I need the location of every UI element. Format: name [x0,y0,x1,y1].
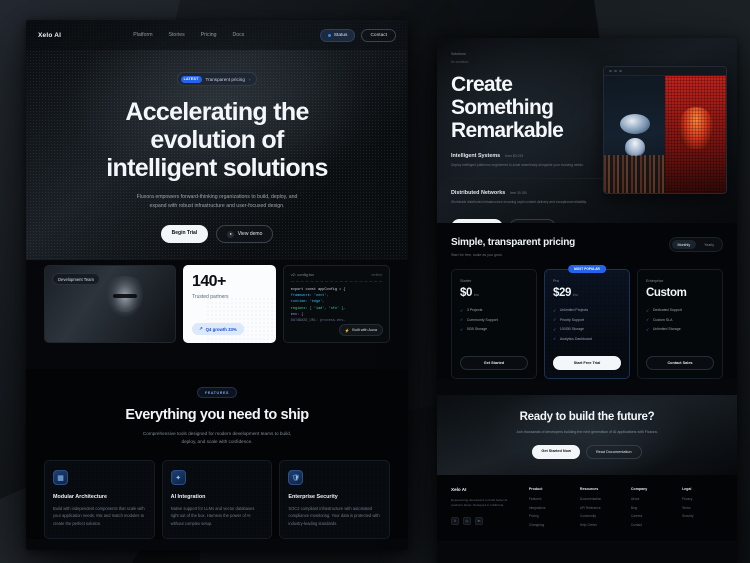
chevron-right-icon: › [249,77,251,82]
stat-number: 140+ [192,274,267,290]
footer-column-heading: Product [529,487,570,491]
announcement-badge[interactable]: LATEST Transparent pricing › [177,72,258,86]
plan-feature-list: ✓3 Projects ✓Community Support ✓5GB Stor… [460,308,528,332]
sparkles-icon: ✦ [171,470,186,485]
plan-feature-label: Dedicated Support [653,308,682,312]
plan-feature-label: 3 Projects [467,308,483,312]
artwork-window-bar [604,67,726,76]
linkedin-icon[interactable]: in [475,517,483,525]
right-feature-row: Distributed Networks free 30 GB Worldwid… [451,190,619,206]
window-dot-icon [609,70,612,73]
footer-link[interactable]: Pricing [529,514,570,518]
built-with-button[interactable]: ⚡ Built with Auxa [339,324,383,336]
features-subtitle-line2: deploy, and scale with confidence. [44,438,390,446]
pricing-heading-group: Simple, transparent pricing Start for fr… [451,237,575,257]
artwork-shape [620,114,650,134]
plan-feature: ✓Custom SLA [646,317,714,322]
plan-feature: ✓Dedicated Support [646,308,714,313]
code-snippet-card: v2: config.tsx verified export const app… [283,265,390,343]
plan-feature: ✓100GB Storage [553,327,621,332]
plan-tier: Enterprise [646,279,714,283]
features-section: FEATURES Everything you need to ship Com… [26,369,408,539]
right-feature-desc: Deploy intelligent platforms engineered … [451,163,619,169]
plan-feature-label: Unlimited Projects [560,308,588,312]
plan-feature: ✓5GB Storage [460,327,528,332]
plan-feature-label: Custom SLA [653,318,673,322]
hero-badge-row: LATEST Transparent pricing › [56,72,378,86]
landing-page-panel-right: Solutions for creatives Create Something… [437,38,737,563]
feature-card[interactable]: ✦ AI Integration Native support for LLMs… [162,460,273,539]
footer: Xelo AI Empowering developers to build b… [437,475,737,541]
nav-link-platform[interactable]: Platform [133,32,152,38]
nav-link-pricing[interactable]: Pricing [201,32,217,38]
contact-button[interactable]: Contact [361,29,396,42]
pricing-subtitle: Start for free, scale as you grow. [451,253,575,257]
toggle-yearly[interactable]: Yearly [698,240,720,249]
footer-link[interactable]: Integrations [529,506,570,510]
feature-card[interactable]: 🛡 Enterprise Security SOC2 compliant inf… [279,460,390,539]
twitter-icon[interactable]: 𝕏 [451,517,459,525]
right-feature-name: Distributed Networks [451,190,505,196]
photo-tag: Development Team [52,273,100,285]
feature-name: Modular Architecture [53,494,146,500]
plan-feature-label: Community Support [467,318,498,322]
plan-feature: ✓Unlimited Projects [553,308,621,313]
right-feature-row: Intelligent Systems from $0.019 Deploy i… [451,153,619,169]
features-badge-row: FEATURES [44,387,390,398]
footer-link[interactable]: Careers [631,514,672,518]
nav-links: Platform Stories Pricing Docs [133,32,244,38]
plan-tier: Starter [460,279,528,283]
contact-sales-button[interactable]: Contact Sales [646,356,714,370]
plan-feature: ✓Analytics Dashboard [553,336,621,341]
footer-description: Empowering developers to build better AI… [451,498,519,509]
code-card-header: v2: config.tsx verified [291,272,382,282]
plan-feature-list: ✓Dedicated Support ✓Custom SLA ✓Unlimite… [646,308,714,332]
plan-feature-list: ✓Unlimited Projects ✓Priority Support ✓1… [553,308,621,342]
plan-feature-label: 100GB Storage [560,327,584,331]
footer-column-legal: Legal Privacy Terms Security [682,487,723,531]
check-icon: ✓ [553,336,556,341]
view-demo-label: View demo [238,231,263,237]
plan-price: Custom [646,288,714,300]
footer-link[interactable]: Features [529,497,570,501]
footer-column-heading: Company [631,487,672,491]
code-filename: v2: config.tsx [291,272,314,277]
pricing-title: Simple, transparent pricing [451,237,575,248]
artwork-preview [603,66,727,194]
plan-feature-label: Priority Support [560,318,584,322]
view-demo-button[interactable]: View demo [216,225,273,243]
footer-column-product: Product Features Integrations Pricing Ch… [529,487,570,531]
check-icon: ✓ [646,308,649,313]
plan-feature: ✓Priority Support [553,317,621,322]
hero-cta-group: Begin Trial View demo [56,225,378,243]
photo-glasses [113,294,137,298]
features-title: Everything you need to ship [44,407,390,423]
read-documentation-button[interactable]: Read Documentation [586,445,642,459]
footer-link[interactable]: Security [682,514,723,518]
team-photo-card: Development Team [44,265,176,343]
footer-link-list: Privacy Terms Security [682,497,723,518]
nav-link-docs[interactable]: Docs [233,32,245,38]
footer-column-company: Company About Blog Careers Contact [631,487,672,531]
check-icon: ✓ [553,308,556,313]
right-feature-head: Intelligent Systems from $0.019 [451,153,619,159]
feature-card-grid: ▦ Modular Architecture Build with indepe… [44,460,390,539]
artwork-grid [604,76,726,194]
status-dot-icon [328,34,331,37]
check-icon: ✓ [646,317,649,322]
artwork-pixel-texture [665,76,726,194]
window-dot-icon [614,70,617,73]
plan-price-value: Custom [646,287,686,299]
code-meta: verified [371,273,382,277]
footer-link[interactable]: Terms [682,506,723,510]
footer-link[interactable]: API Reference [580,506,621,510]
badge-text: Transparent pricing [206,77,245,82]
footer-link-list: Features Integrations Pricing Changelog [529,497,570,527]
cta-section: Ready to build the future? Join thousand… [437,395,737,475]
plan-price-period: /mo [474,293,478,297]
hero-section: LATEST Transparent pricing › Acceleratin… [26,50,408,243]
footer-link[interactable]: Help Center [580,523,621,527]
plan-feature-label: Analytics Dashboard [560,337,592,341]
hero-title-line1: Accelerating the [56,98,378,126]
get-started-now-button[interactable]: Get Started Now [532,445,580,459]
feature-desc: Build with independent components that s… [53,505,146,527]
right-title-line3: Remarkable [451,119,621,142]
pricing-card-pro: MOST POPULAR Pro $29/mo ✓Unlimited Proje… [544,269,630,379]
right-eyebrow-secondary: for creatives [451,60,723,64]
plan-price-period: /mo [573,293,577,297]
plan-feature: ✓3 Projects [460,308,528,313]
billing-period-toggle[interactable]: Monthly Yearly [669,237,723,252]
footer-link[interactable]: About [631,497,672,501]
plan-price: $0/mo [460,288,528,300]
design-canvas: Xelo AI Platform Stories Pricing Docs St… [0,0,750,563]
page-title: Accelerating the evolution of intelligen… [56,98,378,182]
pricing-card-starter: Starter $0/mo ✓3 Projects ✓Community Sup… [451,269,537,379]
right-title-line2: Something [451,96,621,119]
built-with-label: Built with Auxa [352,328,377,332]
bolt-icon: ⚡ [345,328,350,333]
cta-title: Ready to build the future? [520,411,655,423]
feature-name: Enterprise Security [288,494,381,500]
feature-card[interactable]: ▦ Modular Architecture Build with indepe… [44,460,155,539]
right-feature-name: Intelligent Systems [451,153,500,159]
footer-link[interactable]: Changelog [529,523,570,527]
footer-link-list: About Blog Careers Contact [631,497,672,527]
hero-title-line3: intelligent solutions [56,154,378,182]
plan-tier: Pro [553,279,621,283]
footer-link[interactable]: Community [580,514,621,518]
plan-feature: ✓Community Support [460,317,528,322]
plan-feature-label: 5GB Storage [467,327,487,331]
footer-link[interactable]: Contact [631,523,672,527]
divider [451,178,619,179]
stat-dot-texture [206,297,276,343]
code-body: export const appConfig = { framework: 'n… [291,287,382,324]
plan-feature: ✓Unlimited Storage [646,327,714,332]
status-label: Status [334,33,348,38]
footer-social-links: 𝕏 ◎ in [451,517,519,525]
cta-button-group: Get Started Now Read Documentation [532,445,641,459]
footer-column-resources: Resources Documentation API Reference Co… [580,487,621,531]
check-icon: ✓ [553,327,556,332]
footer-column-heading: Resources [580,487,621,491]
landing-page-panel-left: Xelo AI Platform Stories Pricing Docs St… [26,20,408,550]
right-eyebrow: Solutions [451,52,723,56]
growth-label: Q4 growth 33% [206,327,237,332]
plan-price: $29/mo [553,288,621,300]
pricing-card-grid: Starter $0/mo ✓3 Projects ✓Community Sup… [451,269,723,379]
footer-column-heading: Legal [682,487,723,491]
most-popular-flag: MOST POPULAR [568,265,606,273]
footer-logo: Xelo AI [451,487,519,492]
toggle-monthly[interactable]: Monthly [672,240,697,249]
brand-logo[interactable]: Xelo AI [38,32,61,39]
showcase-card-row: Development Team 140+ Trusted partners ↗… [26,243,408,343]
start-free-trial-button[interactable]: Start Free Trial [553,356,621,370]
trend-up-icon: ↗ [199,326,203,332]
artwork-tile [604,76,665,194]
stat-card: 140+ Trusted partners ↗ Q4 growth 33% [183,265,276,343]
get-started-button[interactable]: Get Started [460,356,528,370]
play-icon [227,231,234,238]
right-feature-desc: Worldwide distributed infrastructure ens… [451,200,619,206]
cta-subtitle: Join thousands of developers building th… [516,429,657,435]
footer-link-list: Documentation API Reference Community He… [580,497,621,527]
hero-subtitle-line1: Fluxora empowers forward-thinking organi… [56,193,378,202]
features-badge: FEATURES [197,387,237,398]
right-feature-price: free 30 GB [510,191,526,195]
hero-subtitle: Fluxora empowers forward-thinking organi… [56,193,378,210]
right-feature-head: Distributed Networks free 30 GB [451,190,619,196]
footer-link[interactable]: Documentation [580,497,621,501]
artwork-city [604,155,665,194]
code-line: DATABASE_URL: process.env… [291,318,382,324]
check-icon: ✓ [460,317,463,322]
status-badge[interactable]: Status [320,29,356,42]
footer-link[interactable]: Blog [631,506,672,510]
feature-desc: SOC2 compliant infrastructure with autom… [288,505,381,527]
nav-actions: Status Contact [320,29,396,42]
begin-trial-button[interactable]: Begin Trial [161,225,209,243]
pricing-card-enterprise: Enterprise Custom ✓Dedicated Support ✓Cu… [637,269,723,379]
check-icon: ✓ [460,308,463,313]
artwork-shape [625,138,645,156]
feature-name: AI Integration [171,494,264,500]
right-feature-price: from $0.019 [505,154,523,158]
photo-head [113,286,137,312]
feature-desc: Native support for LLMs and vector datab… [171,505,264,527]
badge-tag: LATEST [181,76,202,83]
artwork-tile [665,76,726,194]
top-navigation: Xelo AI Platform Stories Pricing Docs St… [26,20,408,50]
nav-link-stories[interactable]: Stories [169,32,185,38]
plan-price-value: $29 [553,287,571,299]
features-subtitle: Comprehensive tools designed for modern … [44,430,390,446]
footer-brand: Xelo AI Empowering developers to build b… [451,487,519,531]
hero-subtitle-line2: expand with robust infrastructure and us… [56,202,378,211]
right-page-title: Create Something Remarkable [451,73,621,142]
github-icon[interactable]: ◎ [463,517,471,525]
pricing-header: Simple, transparent pricing Start for fr… [451,237,723,257]
right-title-line1: Create [451,73,621,96]
cube-icon: ▦ [53,470,68,485]
check-icon: ✓ [553,317,556,322]
features-subtitle-line1: Comprehensive tools designed for modern … [44,430,390,438]
window-dot-icon [619,70,622,73]
plan-price-value: $0 [460,287,472,299]
right-hero-section: Solutions for creatives Create Something… [437,38,737,223]
growth-badge: ↗ Q4 growth 33% [192,323,244,335]
check-icon: ✓ [460,327,463,332]
plan-feature-label: Unlimited Storage [653,327,681,331]
shield-icon: 🛡 [288,470,303,485]
footer-link[interactable]: Privacy [682,497,723,501]
hero-title-line2: evolution of [56,126,378,154]
check-icon: ✓ [646,327,649,332]
pricing-section: Simple, transparent pricing Start for fr… [437,223,737,379]
